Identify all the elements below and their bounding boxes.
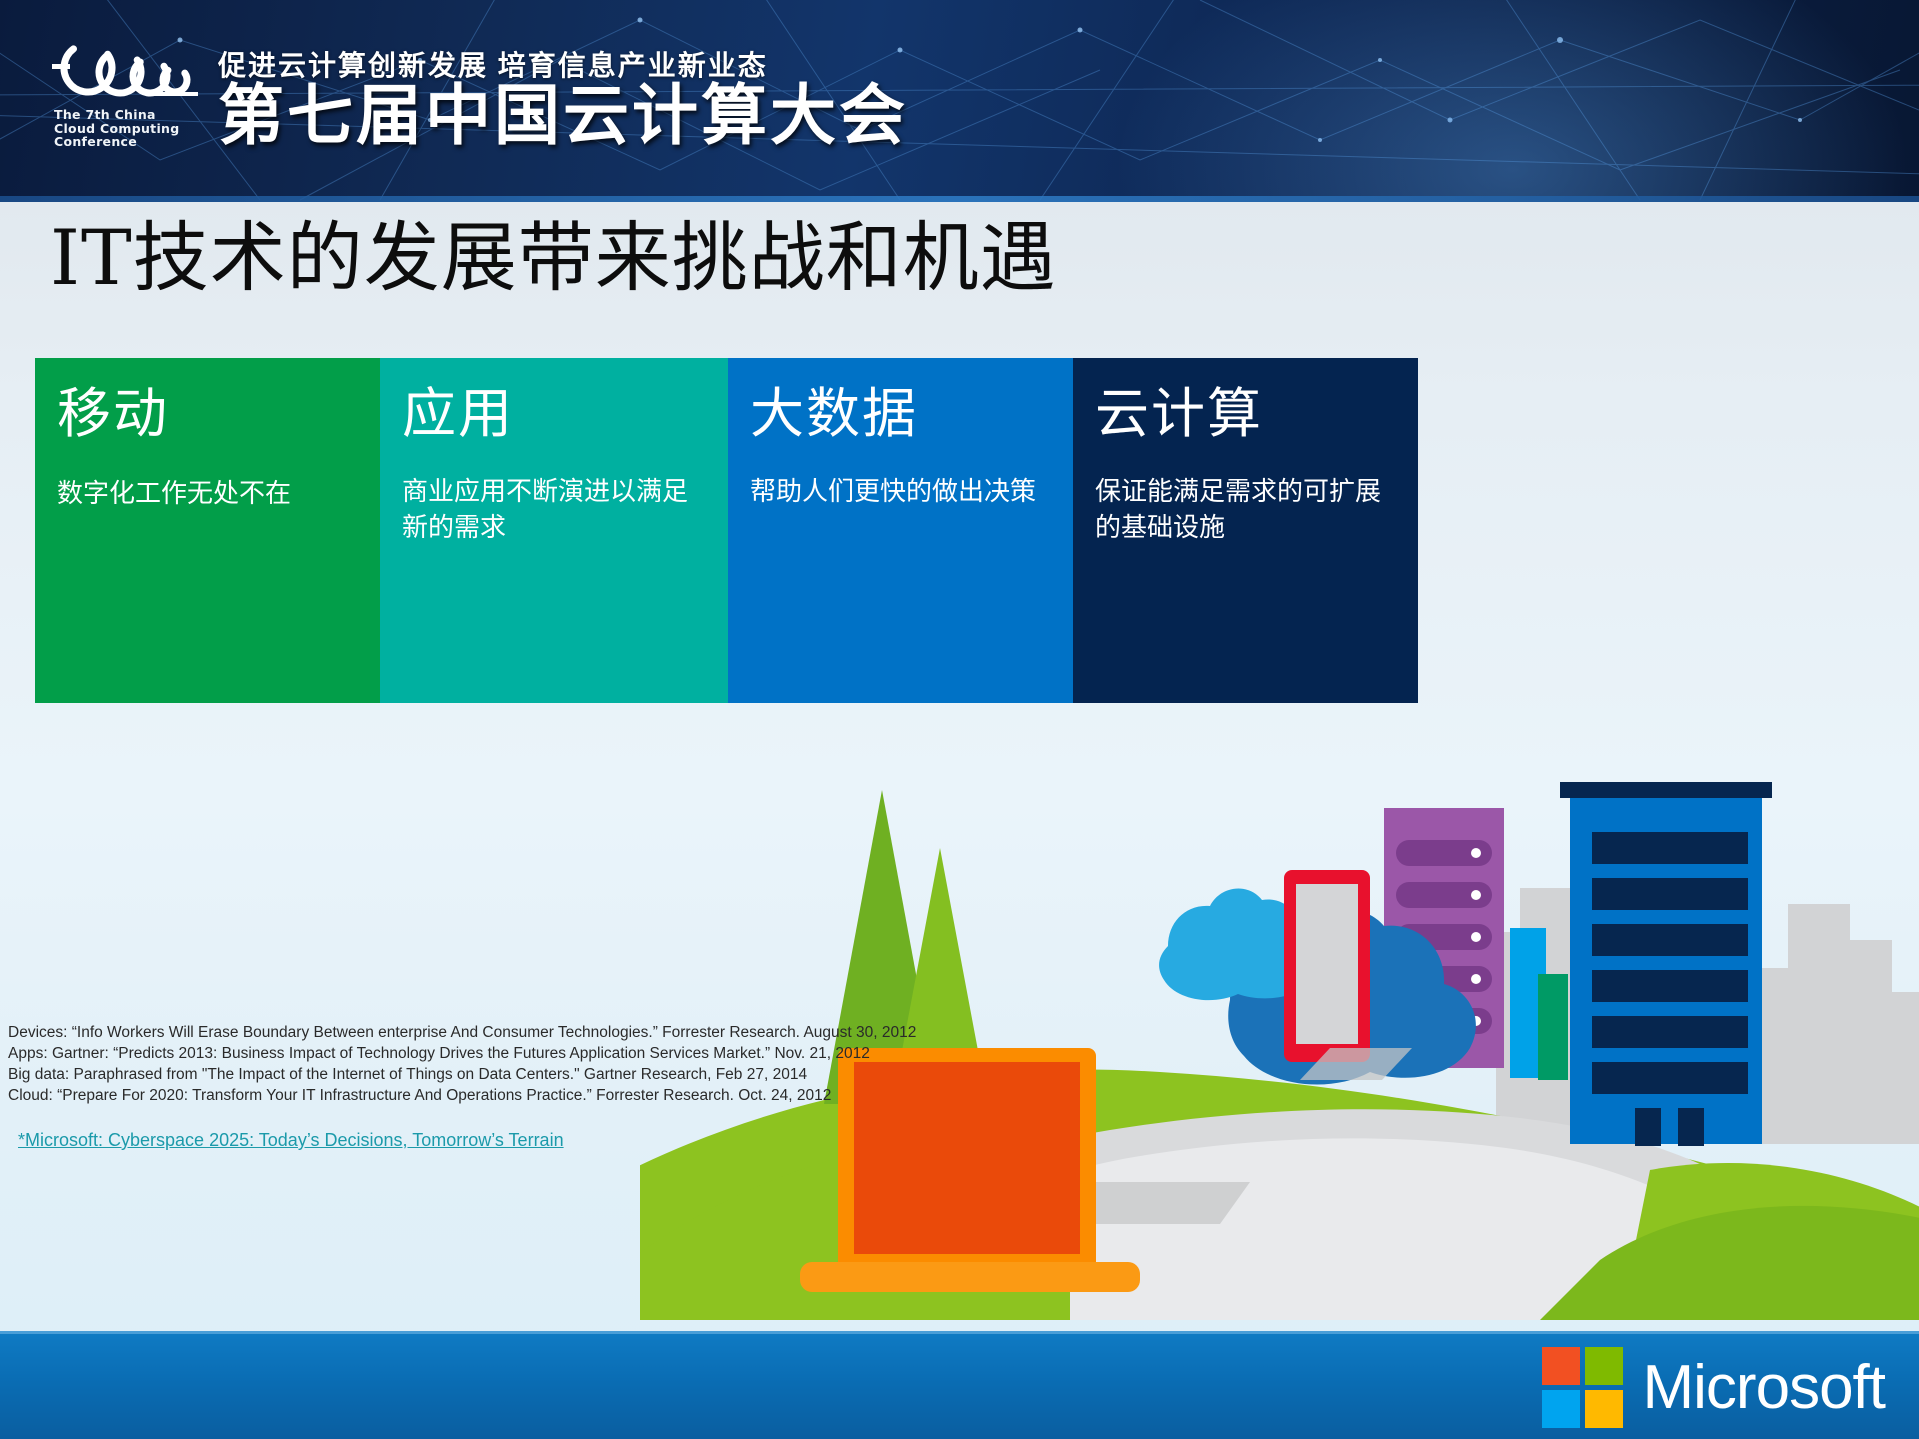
cccc-logo-mark xyxy=(52,34,202,112)
illustration-svg xyxy=(640,700,1919,1320)
cccc-logo: The 7th China Cloud Computing Conference xyxy=(52,34,202,154)
blue-building xyxy=(1560,782,1772,1146)
red-tablet xyxy=(1284,870,1370,1062)
footer-bar: Microsoft xyxy=(0,1331,1919,1439)
citation-bigdata: Big data: Paraphrased from "The Impact o… xyxy=(8,1064,988,1085)
logo-square-green xyxy=(1585,1347,1623,1385)
panel-mobile[interactable]: 移动 数字化工作无处不在 xyxy=(35,358,380,703)
citation-cloud: Cloud: “Prepare For 2020: Transform Your… xyxy=(8,1085,988,1106)
logo-sub-line-1: The 7th China xyxy=(54,108,179,122)
panel-cloud-body: 保证能满足需求的可扩展的基础设施 xyxy=(1095,474,1385,546)
panel-big-data-heading: 大数据 xyxy=(750,384,1051,444)
microsoft-cyberspace-link[interactable]: *Microsoft: Cyberspace 2025: Today’s Dec… xyxy=(18,1130,564,1151)
panel-apps[interactable]: 应用 商业应用不断演进以满足新的需求 xyxy=(380,358,728,703)
panel-big-data[interactable]: 大数据 帮助人们更快的做出决策 xyxy=(728,358,1073,703)
panel-mobile-heading: 移动 xyxy=(57,384,358,444)
bar-green xyxy=(1538,974,1568,1080)
presentation-slide: The 7th China Cloud Computing Conference… xyxy=(0,0,1919,1439)
pillar-panels: 移动 数字化工作无处不在 应用 商业应用不断演进以满足新的需求 大数据 帮助人们… xyxy=(35,358,1418,703)
logo-sub-line-2: Cloud Computing xyxy=(54,122,179,136)
cloud-landscape-illustration xyxy=(640,700,1919,1320)
citation-devices: Devices: “Info Workers Will Erase Bounda… xyxy=(8,1022,988,1043)
citation-apps: Apps: Gartner: “Predicts 2013: Business … xyxy=(8,1043,988,1064)
logo-subtitle: The 7th China Cloud Computing Conference xyxy=(54,108,179,149)
panel-apps-body: 商业应用不断演进以满足新的需求 xyxy=(402,474,692,546)
microsoft-logo: Microsoft xyxy=(1542,1347,1885,1428)
footer-top-rule xyxy=(0,1331,1919,1334)
conference-banner: The 7th China Cloud Computing Conference… xyxy=(0,0,1919,202)
logo-square-yellow xyxy=(1585,1390,1623,1428)
logo-sub-line-3: Conference xyxy=(54,135,179,149)
logo-square-blue xyxy=(1542,1390,1580,1428)
panel-cloud-heading: 云计算 xyxy=(1095,384,1396,444)
logo-square-red xyxy=(1542,1347,1580,1385)
panel-apps-heading: 应用 xyxy=(402,384,706,444)
panel-mobile-body: 数字化工作无处不在 xyxy=(57,476,347,512)
citations-block: Devices: “Info Workers Will Erase Bounda… xyxy=(8,1022,988,1106)
microsoft-logo-squares xyxy=(1542,1347,1623,1428)
banner-glow xyxy=(1113,0,1913,202)
panel-big-data-body: 帮助人们更快的做出决策 xyxy=(750,474,1040,510)
microsoft-wordmark: Microsoft xyxy=(1643,1357,1885,1419)
panel-cloud[interactable]: 云计算 保证能满足需求的可扩展的基础设施 xyxy=(1073,358,1418,703)
banner-title: 第七届中国云计算大会 xyxy=(218,78,908,152)
page-title: IT技术的发展带来挑战和机遇 xyxy=(50,196,1057,306)
